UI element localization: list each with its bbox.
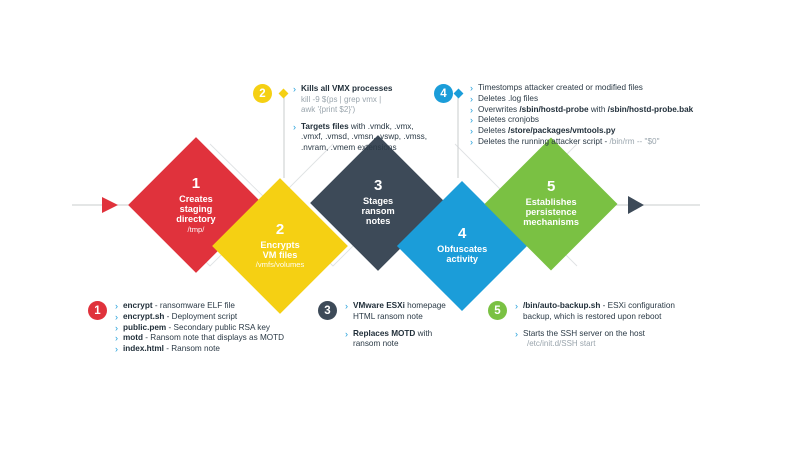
bullet-item: motd - Ransom note that displays as MOTD <box>115 333 320 344</box>
bullet-bold: Kills all VMX processes <box>301 84 392 93</box>
flow-arrow-start <box>102 197 118 213</box>
annotation-badge-5: 5 <box>488 301 507 320</box>
bullet-bold: encrypt <box>123 301 153 310</box>
bullet-item: Replaces MOTD with ransom note <box>345 329 485 351</box>
bullet-bold: Targets files <box>301 122 349 131</box>
bullet-rest: Deletes .log files <box>478 94 770 105</box>
bullet-item: Timestomps attacker created or modified … <box>470 83 770 94</box>
bullet-bold: encrypt.sh <box>123 312 164 321</box>
step-4-content: 4 Obfuscates activity <box>416 226 508 265</box>
step-4-number: 4 <box>416 226 508 243</box>
bullet-item: Deletes the running attacker script - /b… <box>470 137 770 148</box>
bullet-rest: Deletes the running attacker script - <box>478 137 610 146</box>
step-5-title: Establishes persistence mechanisms <box>504 197 598 228</box>
bullet-bold: /store/packages/vmtools.py <box>508 126 615 135</box>
bullet-subtext: kill -9 $(ps | grep vmx | awk '{print $2… <box>301 95 443 116</box>
bullet-bold: /bin/auto-backup.sh <box>523 301 600 310</box>
annotation-body-3: VMware ESXi homepage HTML ransom note Re… <box>345 301 485 350</box>
bullet-bold: VMware ESXi <box>353 301 405 310</box>
annotation-body-1: encrypt - ransomware ELF file encrypt.sh… <box>115 301 320 355</box>
bullet-item: /bin/auto-backup.sh - ESXi configuration… <box>515 301 720 323</box>
annotation-body-4: Timestomps attacker created or modified … <box>470 83 770 148</box>
step-4-title: Obfuscates activity <box>416 244 508 265</box>
annotation-badge-1: 1 <box>88 301 107 320</box>
stem-marker-4 <box>454 89 464 99</box>
step-2-title: Encrypts VM files <box>232 240 328 261</box>
annotation-badge-3: 3 <box>318 301 337 320</box>
bullet-subtext: /etc/init.d/SSH start <box>527 339 720 349</box>
bullet-mid: with <box>589 105 608 114</box>
bullet-rest: - ransomware ELF file <box>153 301 235 310</box>
bullet-item: encrypt.sh - Deployment script <box>115 312 320 323</box>
step-1-content: 1 Creates staging directory /tmp/ <box>148 176 244 234</box>
bullet-rest: Starts the SSH server on the host <box>523 329 645 338</box>
bullet-item: encrypt - ransomware ELF file <box>115 301 320 312</box>
bullet-bold: Replaces MOTD <box>353 329 415 338</box>
bullet-bold: motd <box>123 333 143 342</box>
bullet-rest: - Secondary public RSA key <box>166 323 270 332</box>
bullet-tail: /bin/rm -- "$0" <box>610 137 660 146</box>
annotation-body-2: Kills all VMX processes kill -9 $(ps | g… <box>293 84 443 154</box>
bullet-item: VMware ESXi homepage HTML ransom note <box>345 301 485 323</box>
diagram-canvas: 1 Creates staging directory /tmp/ 2 Encr… <box>0 0 800 450</box>
bullet-item: Starts the SSH server on the host /etc/i… <box>515 329 720 350</box>
step-1-number: 1 <box>148 176 244 193</box>
annotation-body-5: /bin/auto-backup.sh - ESXi configuration… <box>515 301 720 350</box>
step-3-title: Stages ransom notes <box>330 196 426 227</box>
bullet-item: Targets files with .vmdk, .vmx, .vmxf, .… <box>293 122 443 154</box>
bullet-bold: public.pem <box>123 323 166 332</box>
step-3-number: 3 <box>330 178 426 195</box>
flow-arrow-end <box>628 196 644 214</box>
bullet-rest: - Ransom note <box>164 344 220 353</box>
bullet-item: Deletes cronjobs <box>470 115 770 126</box>
step-2-number: 2 <box>232 222 328 239</box>
bullet-bold: /sbin/hostd-probe <box>519 105 588 114</box>
bullet-pre: Deletes <box>478 126 508 135</box>
bullet-item: index.html - Ransom note <box>115 344 320 355</box>
step-5-content: 5 Establishes persistence mechanisms <box>504 179 598 229</box>
bullet-rest: Timestomps attacker created or modified … <box>478 83 770 94</box>
annotation-badge-4: 4 <box>434 84 453 103</box>
bullet-bold: index.html <box>123 344 164 353</box>
bullet-item: Kills all VMX processes kill -9 $(ps | g… <box>293 84 443 116</box>
stem-marker-2 <box>279 89 289 99</box>
bullet-item: Deletes .log files <box>470 94 770 105</box>
bullet-bold-2: /sbin/hostd-probe.bak <box>608 105 694 114</box>
step-2-content: 2 Encrypts VM files /vmfs/volumes <box>232 222 328 270</box>
step-5-number: 5 <box>504 179 598 196</box>
bullet-rest: Deletes cronjobs <box>478 115 770 126</box>
bullet-item: Deletes /store/packages/vmtools.py <box>470 126 770 137</box>
bullet-item: Overwrites /sbin/hostd-probe with /sbin/… <box>470 105 770 116</box>
bullet-rest: - Ransom note that displays as MOTD <box>143 333 284 342</box>
bullet-pre: Overwrites <box>478 105 519 114</box>
step-1-title: Creates staging directory <box>148 194 244 225</box>
step-3-content: 3 Stages ransom notes <box>330 178 426 228</box>
bullet-rest: - Deployment script <box>164 312 237 321</box>
step-2-subtitle: /vmfs/volumes <box>232 261 328 270</box>
annotation-badge-2: 2 <box>253 84 272 103</box>
bullet-item: public.pem - Secondary public RSA key <box>115 323 320 334</box>
